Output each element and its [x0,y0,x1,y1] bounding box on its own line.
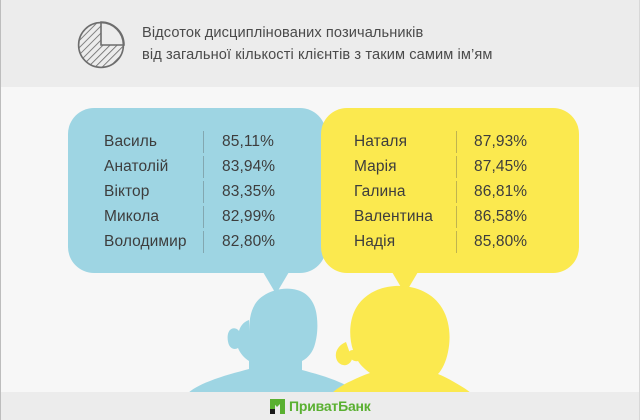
percent-value: 87,93% [474,129,527,154]
list-item: Марія 87,45% [321,154,579,179]
list-item: Володимир 82,80% [68,229,326,254]
list-item: Галина 86,81% [321,179,579,204]
name-label: Василь [104,129,203,154]
percent-value: 86,81% [474,179,527,204]
name-label: Анатолій [104,154,203,179]
row-divider [203,131,204,153]
row-divider [203,156,204,178]
row-divider [456,181,457,203]
percent-value: 83,94% [222,154,275,179]
list-item: Надія 85,80% [321,229,579,254]
page-title: Відсоток дисциплінованих позичальників в… [142,22,612,66]
speech-bubble-male: Василь 85,11% Анатолій 83,94% Віктор 83,… [68,108,326,273]
row-divider [456,231,457,253]
list-item: Віктор 83,35% [68,179,326,204]
female-name-list: Наталя 87,93% Марія 87,45% Галина 86,81%… [321,129,579,254]
privatbank-logo-text: ПриватБанк [289,398,371,415]
name-label: Володимир [104,229,203,254]
row-divider [203,231,204,253]
title-line-1: Відсоток дисциплінованих позичальників [142,22,612,44]
percent-value: 82,99% [222,204,275,229]
infographic-canvas: Відсоток дисциплінованих позичальників в… [0,0,640,420]
percent-value: 82,80% [222,229,275,254]
name-label: Наталя [354,129,456,154]
privatbank-logo: ПриватБанк [269,398,371,415]
female-silhouette [331,286,472,394]
row-divider [203,206,204,228]
male-silhouette [187,289,358,394]
name-label: Валентина [354,204,456,229]
row-divider [456,156,457,178]
list-item: Микола 82,99% [68,204,326,229]
name-label: Галина [354,179,456,204]
name-label: Микола [104,204,203,229]
silhouette-group [1,282,640,394]
percent-value: 86,58% [474,204,527,229]
percent-value: 85,80% [474,229,527,254]
title-line-2: від загальної кількості клієнтів з таким… [142,44,612,66]
male-name-list: Василь 85,11% Анатолій 83,94% Віктор 83,… [68,129,326,254]
row-divider [456,131,457,153]
list-item: Валентина 86,58% [321,204,579,229]
header-band: Відсоток дисциплінованих позичальників в… [1,0,640,87]
percent-value: 87,45% [474,154,527,179]
row-divider [456,206,457,228]
name-label: Надія [354,229,456,254]
speech-bubble-female: Наталя 87,93% Марія 87,45% Галина 86,81%… [321,108,579,273]
pie-chart-icon [77,21,125,69]
percent-value: 85,11% [222,129,274,154]
list-item: Василь 85,11% [68,129,326,154]
list-item: Анатолій 83,94% [68,154,326,179]
row-divider [203,181,204,203]
list-item: Наталя 87,93% [321,129,579,154]
name-label: Марія [354,154,456,179]
privatbank-logo-icon [269,398,286,415]
percent-value: 83,35% [222,179,275,204]
name-label: Віктор [104,179,203,204]
